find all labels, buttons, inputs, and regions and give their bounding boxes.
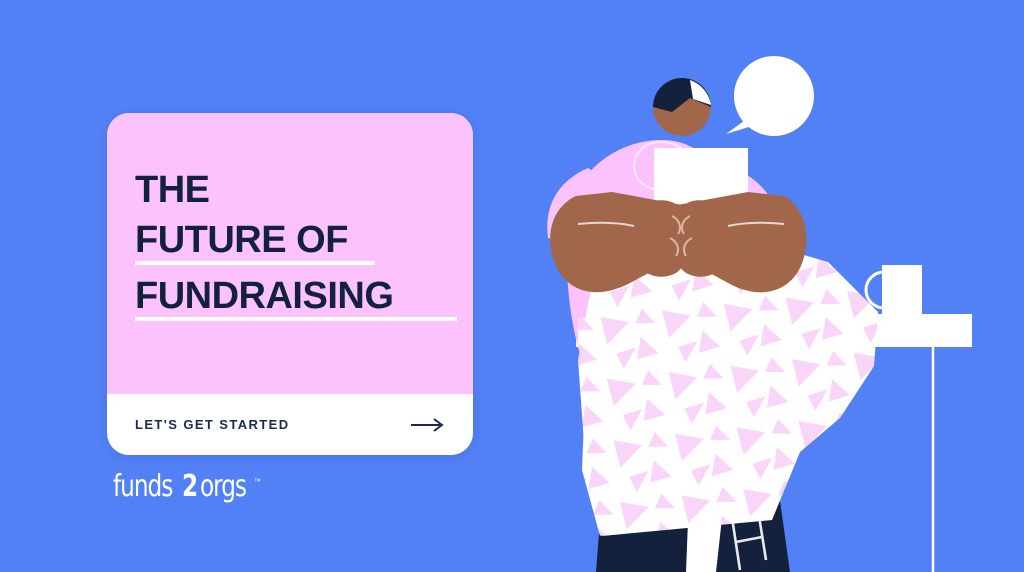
table-plank bbox=[576, 314, 972, 347]
arm-highlight bbox=[578, 223, 784, 226]
stitch-lines bbox=[726, 472, 766, 570]
arms-folded bbox=[550, 192, 806, 292]
pink-shirt bbox=[547, 140, 778, 372]
speech-bubble-icon bbox=[726, 56, 814, 136]
patterned-fabric bbox=[578, 238, 878, 536]
headline-line-3: FUNDRAISING bbox=[135, 271, 465, 321]
trademark-icon: ™ bbox=[254, 478, 261, 486]
headline-line-2: FUTURE OF bbox=[135, 215, 465, 265]
cta-button[interactable]: LET'S GET STARTED bbox=[107, 394, 473, 455]
logo-part2: orgs bbox=[200, 472, 246, 502]
fabric-front-drape bbox=[582, 372, 672, 536]
slide-canvas: THE FUTURE OF FUNDRAISING LET'S GET STAR… bbox=[0, 0, 1024, 572]
content-card: THE FUTURE OF FUNDRAISING LET'S GET STAR… bbox=[107, 113, 473, 455]
logo-part1: funds bbox=[113, 472, 172, 502]
legs bbox=[596, 398, 790, 572]
cta-label: LET'S GET STARTED bbox=[135, 417, 290, 432]
head bbox=[653, 78, 711, 136]
page-title: THE FUTURE OF FUNDRAISING bbox=[135, 165, 465, 327]
arrow-right-icon bbox=[411, 418, 445, 432]
headline-line-1: THE bbox=[135, 165, 465, 215]
logo-accent: 2 bbox=[182, 472, 197, 502]
brand-logo[interactable]: funds 2 orgs ™ bbox=[113, 472, 262, 502]
paper-sheet bbox=[654, 148, 748, 210]
mug-icon bbox=[866, 265, 922, 317]
knuckle-lines bbox=[670, 216, 692, 256]
